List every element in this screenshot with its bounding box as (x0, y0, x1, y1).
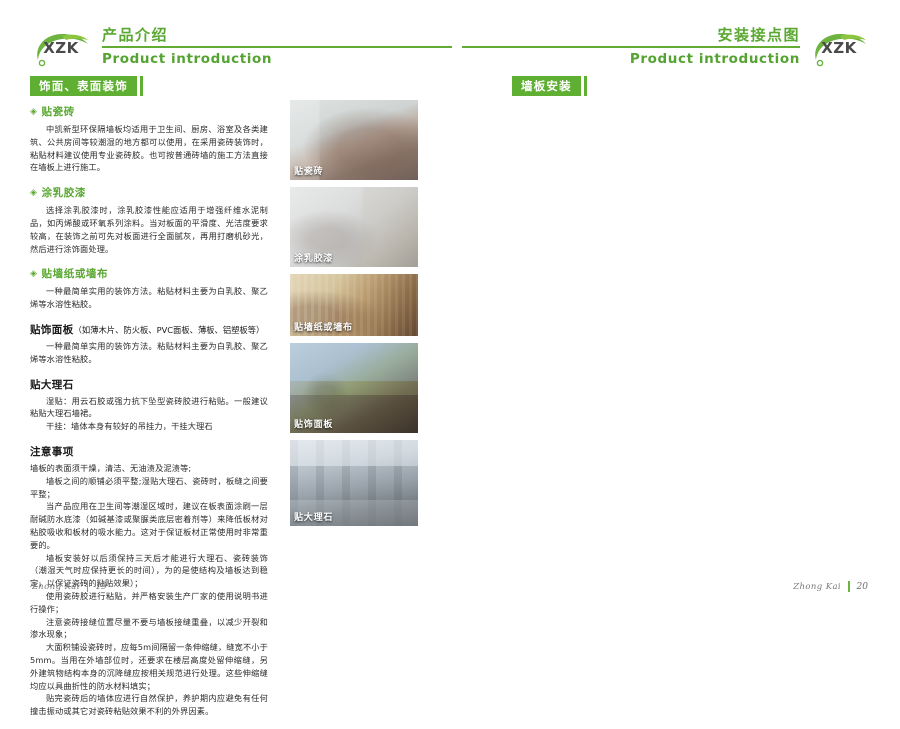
brochure-spread: XZK 产品介绍 Product introduction 饰面、表面装饰 ◈ … (0, 0, 900, 610)
footer-divider (87, 581, 89, 592)
diamond-icon: ◈ (30, 107, 38, 117)
footer-brand: Zhong Kai (793, 582, 841, 592)
section-heading-notices: 注意事项 (30, 444, 268, 459)
footer-page-number: 19 (95, 582, 106, 592)
diamond-icon: ◈ (30, 188, 38, 198)
heading-text: 贴瓷砖 (42, 104, 75, 119)
photo-panel: 贴饰面板 (290, 343, 418, 433)
left-page-header: XZK 产品介绍 Product introduction (30, 26, 452, 78)
section-tiling: ◈ 贴瓷砖 中凯新型环保隔墙板均适用于卫生间、厨房、浴室及各类建筑、公共房间等较… (30, 104, 268, 174)
right-page-title-en: Product introduction (462, 51, 800, 68)
diamond-icon: ◈ (30, 269, 38, 279)
right-section-tag: 墙板安装 (512, 76, 581, 96)
logo-xzk-right: XZK (808, 28, 870, 70)
heading-text: 贴饰面板 (30, 324, 74, 336)
section-body: 选择涂乳胶漆时，涂乳胶漆性能应适用于增强纤维水泥制品，如丙烯酸或环氧系列涂料。当… (30, 204, 268, 255)
notice-item: 墙板的表面须干燥，清洁、无油渍及泥渍等; (30, 462, 268, 475)
section-marble: 贴大理石 湿贴：用云石胶或强力抗下坠型瓷砖胶进行粘贴。一般建议粘贴大理石墙裙。 … (30, 377, 268, 433)
photo-painting: 涂乳胶漆 (290, 187, 418, 267)
section-heading-wallpaper: ◈ 贴墙纸或墙布 (30, 266, 268, 281)
header-rule-left (102, 46, 452, 48)
heading-text: 贴墙纸或墙布 (42, 266, 109, 281)
section-body: 一种最简单实用的装饰方法。粘贴材料主要为白乳胶、聚乙烯等水溶性粘胶。 (30, 285, 268, 311)
notice-item: 使用瓷砖胶进行粘贴，并严格安装生产厂家的使用说明书进行操作； (30, 590, 268, 616)
section-wallpaper: ◈ 贴墙纸或墙布 一种最简单实用的装饰方法。粘贴材料主要为白乳胶、聚乙烯等水溶性… (30, 266, 268, 311)
logo-text: XZK (36, 39, 86, 57)
photo-tiling: 贴瓷砖 (290, 100, 418, 180)
photo-caption: 贴瓷砖 (294, 164, 323, 177)
footer-page-number: 20 (857, 582, 868, 592)
heading-text: 贴大理石 (30, 379, 74, 391)
photo-caption: 贴墙纸或墙布 (294, 320, 353, 333)
section-heading-tiling: ◈ 贴瓷砖 (30, 104, 268, 119)
photo-strip: 贴瓷砖 涂乳胶漆 贴墙纸或墙布 贴饰面板 贴大理石 (290, 100, 418, 533)
left-page: XZK 产品介绍 Product introduction 饰面、表面装饰 ◈ … (0, 0, 462, 610)
heading-text: 涂乳胶漆 (42, 185, 86, 200)
photo-caption: 涂乳胶漆 (294, 251, 333, 264)
section-decor-panel: 贴饰面板（如薄木片、防火板、PVC面板、薄板、铝塑板等） 一种最简单实用的装饰方… (30, 322, 268, 366)
section-latex-paint: ◈ 涂乳胶漆 选择涂乳胶漆时，涂乳胶漆性能应适用于增强纤维水泥制品，如丙烯酸或环… (30, 185, 268, 255)
left-section-tag: 饰面、表面装饰 (30, 76, 137, 96)
left-page-footer: Zhong Kai 19 (32, 581, 107, 592)
heading-text: 注意事项 (30, 446, 74, 458)
header-rule-right (462, 46, 800, 48)
right-page: XZK 安装接点图 Product introduction 墙板安装 (462, 0, 900, 610)
section-heading-latex-paint: ◈ 涂乳胶漆 (30, 185, 268, 200)
logo-xzk-left: XZK (30, 28, 92, 70)
heading-subtext: （如薄木片、防火板、PVC面板、薄板、铝塑板等） (74, 325, 265, 335)
section-body: 湿贴：用云石胶或强力抗下坠型瓷砖胶进行粘贴。一般建议粘贴大理石墙裙。 (30, 395, 268, 421)
logo-text: XZK (814, 39, 864, 57)
section-heading-marble: 贴大理石 (30, 377, 268, 392)
notice-item: 墙板之间的顺铺必须平整;湿贴大理石、瓷砖时，板缝之间要平整； (30, 475, 268, 501)
photo-caption: 贴饰面板 (294, 417, 333, 430)
notice-item: 大面积铺设瓷砖时，应每5m间隔留一条伸缩缝，缝宽不小于5mm。当用在外墙部位时，… (30, 641, 268, 692)
left-text-column: ◈ 贴瓷砖 中凯新型环保隔墙板均适用于卫生间、厨房、浴室及各类建筑、公共房间等较… (30, 104, 268, 729)
left-page-title-en: Product introduction (102, 51, 452, 68)
section-body: 中凯新型环保隔墙板均适用于卫生间、厨房、浴室及各类建筑、公共房间等较潮湿的地方都… (30, 123, 268, 174)
footer-brand: Zhong Kai (32, 582, 80, 592)
section-body: 一种最简单实用的装饰方法。粘贴材料主要为白乳胶、聚乙烯等水溶性粘胶。 (30, 340, 268, 366)
photo-wallpaper: 贴墙纸或墙布 (290, 274, 418, 336)
left-header-texts: 产品介绍 Product introduction (102, 26, 452, 68)
photo-caption: 贴大理石 (294, 510, 333, 523)
right-header-texts: 安装接点图 Product introduction (462, 26, 800, 68)
right-page-title-cn: 安装接点图 (462, 26, 800, 44)
photo-marble: 贴大理石 (290, 440, 418, 526)
notice-item: 贴完瓷砖后的墙体应进行自然保护，养护期内应避免有任何撞击振动或其它对瓷砖粘贴效果… (30, 692, 268, 718)
notice-item: 注意瓷砖接缝位置尽量不要与墙板接缝重叠，以减少开裂和渗水现象； (30, 616, 268, 642)
right-page-header: XZK 安装接点图 Product introduction (462, 26, 870, 78)
right-page-footer: Zhong Kai 20 (793, 581, 868, 592)
left-page-title-cn: 产品介绍 (102, 26, 452, 44)
section-body: 干挂：墙体本身有较好的吊挂力，干挂大理石 (30, 420, 268, 433)
section-heading-decor-panel: 贴饰面板（如薄木片、防火板、PVC面板、薄板、铝塑板等） (30, 322, 268, 337)
footer-divider (848, 581, 850, 592)
notice-item: 当产品应用在卫生间等潮湿区域时，建议在板表面涂刷一层耐碱防水底漆（如碱基漆或聚脲… (30, 500, 268, 551)
